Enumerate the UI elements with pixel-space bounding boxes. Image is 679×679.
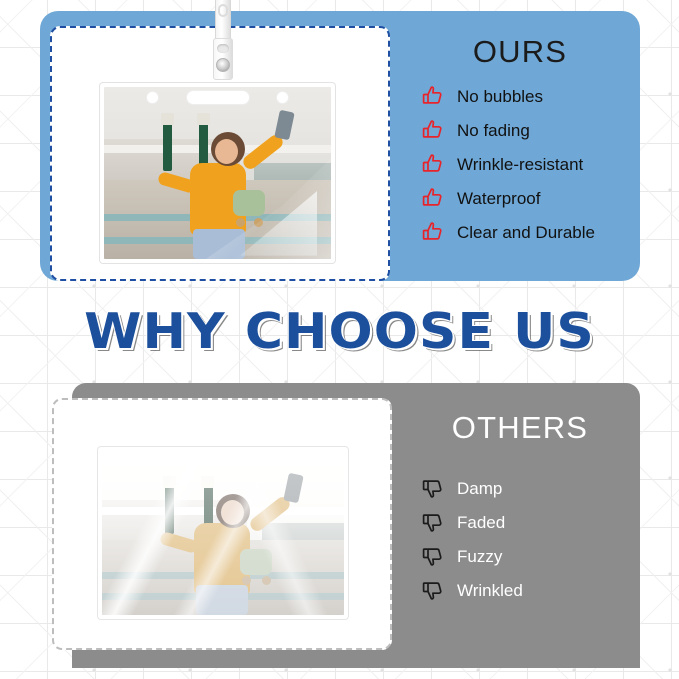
badge-clip (212, 0, 234, 80)
page-title: WHY CHOOSE US (0, 303, 679, 360)
list-item: Clear and Durable (420, 220, 640, 244)
ours-heading: OURS (400, 34, 640, 70)
thumbs-up-icon (420, 152, 446, 176)
list-item: Wrinkle-resistant (420, 152, 640, 176)
thumbs-down-icon (420, 578, 446, 602)
others-badge-photo (98, 447, 348, 619)
photo-scene-faded (102, 451, 344, 615)
comparison-infographic: OURS No bubbles No fading (0, 0, 679, 679)
feature-label: Faded (457, 514, 505, 531)
clip-rivet-icon (216, 58, 230, 72)
list-item: No bubbles (420, 84, 640, 108)
others-feature-column: OTHERS Damp Faded (400, 410, 640, 612)
list-item: Waterproof (420, 186, 640, 210)
thumbs-up-icon (420, 220, 446, 244)
ours-badge-photo (100, 83, 335, 263)
thumbs-up-icon (420, 186, 446, 210)
thumbs-down-icon (420, 510, 446, 534)
feature-label: Wrinkled (457, 582, 523, 599)
list-item: Damp (420, 476, 640, 500)
feature-label: Clear and Durable (457, 224, 595, 241)
others-feature-list: Damp Faded Fuzzy (400, 476, 640, 602)
ours-feature-list: No bubbles No fading Wri (400, 84, 640, 244)
thumbs-down-icon (420, 544, 446, 568)
feature-label: Wrinkle-resistant (457, 156, 583, 173)
feature-label: Damp (457, 480, 502, 497)
feature-label: Waterproof (457, 190, 540, 207)
ours-feature-column: OURS No bubbles No fading (400, 0, 640, 254)
thumbs-up-icon (420, 118, 446, 142)
feature-label: Fuzzy (457, 548, 502, 565)
list-item: Fuzzy (420, 544, 640, 568)
list-item: Wrinkled (420, 578, 640, 602)
thumbs-up-icon (420, 84, 446, 108)
feature-label: No bubbles (457, 88, 543, 105)
feature-label: No fading (457, 122, 530, 139)
others-heading: OTHERS (400, 410, 640, 446)
list-item: No fading (420, 118, 640, 142)
list-item: Faded (420, 510, 640, 534)
thumbs-down-icon (420, 476, 446, 500)
